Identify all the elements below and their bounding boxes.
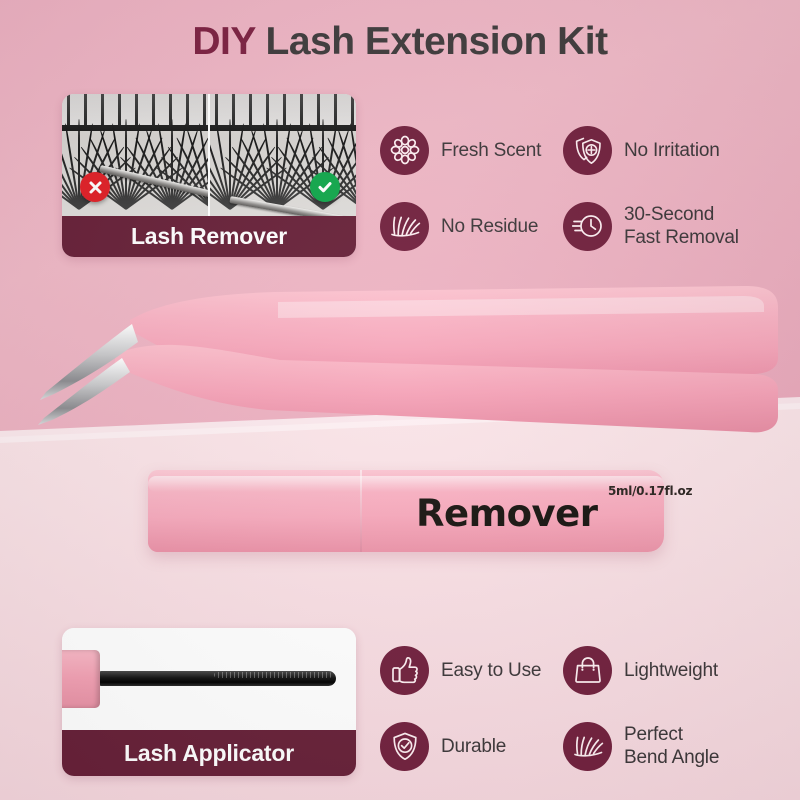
- photo-before: [62, 94, 208, 216]
- feature-list-bottom: Easy to Use Lightweight: [380, 632, 746, 784]
- check-badge: [310, 172, 340, 202]
- lash-applicator-caption: Lash Applicator: [62, 730, 356, 776]
- applicator-stage: [62, 628, 356, 730]
- feature-label: 30-Second Fast Removal: [624, 203, 739, 249]
- thumbs-up-icon: [380, 646, 429, 695]
- feature-easy-to-use: Easy to Use: [380, 632, 563, 708]
- lash-remover-caption: Lash Remover: [62, 216, 356, 257]
- applicator-wand: [98, 671, 336, 686]
- feature-label: Fresh Scent: [441, 139, 541, 162]
- handbag-icon: [563, 646, 612, 695]
- title-rest: Lash Extension Kit: [266, 20, 608, 63]
- tube-gloss: [148, 476, 664, 492]
- feature-no-irritation: No Irritation: [563, 112, 746, 188]
- shield-plus-icon: [563, 126, 612, 175]
- feature-fast-removal: 30-Second Fast Removal: [563, 188, 746, 264]
- comparison-photo-pair: [62, 94, 356, 216]
- x-badge: [80, 172, 110, 202]
- tweezers-image: [10, 262, 800, 447]
- feature-label: No Residue: [441, 215, 538, 238]
- feature-label: Durable: [441, 735, 506, 758]
- feature-label: Lightweight: [624, 659, 718, 682]
- product-infographic: DIY Lash Extension Kit: [0, 0, 800, 800]
- shield-check-icon: [380, 722, 429, 771]
- title-highlight: DIY: [192, 20, 265, 63]
- feature-no-residue: No Residue: [380, 188, 563, 264]
- tube-volume-text: 5ml/0.17fl.oz: [608, 484, 692, 498]
- feature-lightweight: Lightweight: [563, 632, 746, 708]
- feature-label: No Irritation: [624, 139, 720, 162]
- lash-bend-icon: [563, 722, 612, 771]
- feature-label: Easy to Use: [441, 659, 541, 682]
- page-title: DIY Lash Extension Kit: [0, 16, 800, 68]
- feature-fresh-scent: Fresh Scent: [380, 112, 563, 188]
- feature-label: Perfect Bend Angle: [624, 723, 719, 769]
- feature-durable: Durable: [380, 708, 563, 784]
- lash-remover-card: Lash Remover: [62, 94, 356, 257]
- photo-after: [208, 94, 356, 216]
- lash-fan-icon: [380, 202, 429, 251]
- feature-list-top: Fresh Scent No Irritation: [380, 112, 746, 264]
- clock-fast-icon: [563, 202, 612, 251]
- remover-tube-image: 5ml/0.17fl.oz Remover: [148, 470, 664, 552]
- lash-applicator-card: Lash Applicator: [62, 628, 356, 776]
- feature-perfect-bend-angle: Perfect Bend Angle: [563, 708, 746, 784]
- tube-brand-text: Remover: [416, 494, 598, 534]
- applicator-cap: [62, 650, 100, 708]
- flower-icon: [380, 126, 429, 175]
